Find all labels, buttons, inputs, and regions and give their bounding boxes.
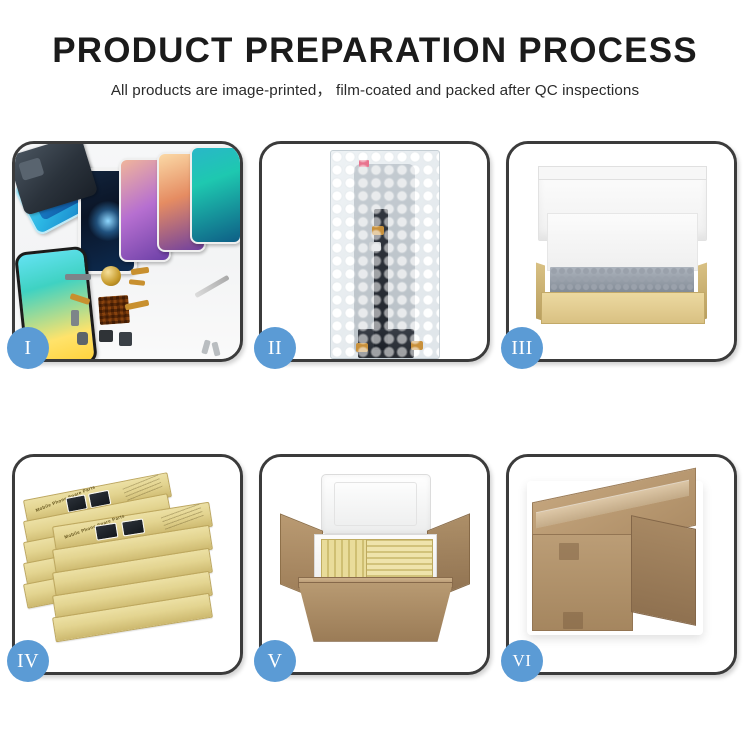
carton-hand-tab-bottom	[563, 612, 583, 629]
page-subtitle: All products are image-printed， film-coa…	[0, 81, 750, 101]
pink-label-tag	[359, 160, 369, 167]
connector-b	[369, 242, 381, 251]
white-foam-sheet	[547, 213, 698, 271]
box-window-2b	[121, 518, 146, 537]
screwdriver-bit-2	[211, 341, 220, 356]
process-step-panel-2: II	[259, 141, 490, 362]
chip-component	[98, 295, 130, 325]
bubble-wrapped-contents	[550, 267, 694, 295]
process-step-panel-4: Mobile Phone Spare Parts Mobile Phone Sp…	[12, 454, 243, 675]
carton-with-foam-image	[262, 457, 487, 672]
step-badge-2: II	[254, 327, 296, 369]
yellow-boxes-right	[366, 539, 433, 582]
box-lid-lip	[538, 166, 707, 181]
connector-a	[372, 226, 384, 235]
carton-hand-tab-top	[559, 543, 579, 560]
process-step-panel-1: I	[12, 141, 243, 362]
box-front-panel	[541, 292, 705, 324]
carton-body	[298, 582, 453, 642]
small-part-a	[65, 274, 91, 280]
carton-side-face	[631, 515, 696, 625]
step-badge-6: VI	[501, 640, 543, 682]
step-badge-3: III	[501, 327, 543, 369]
sealed-carton-image	[509, 457, 734, 672]
speaker-component	[101, 266, 121, 286]
bubble-wrapped-screen-image	[262, 144, 487, 359]
small-part-b	[71, 310, 79, 326]
phone-parts-image	[15, 144, 240, 359]
flex-cable-d	[129, 279, 145, 286]
small-part-d	[99, 330, 113, 342]
step-badge-4: IV	[7, 640, 49, 682]
connector-c	[356, 343, 368, 352]
box-window-2a	[94, 522, 119, 541]
teal-phone-screen	[190, 146, 240, 244]
open-kraft-box-image	[509, 144, 734, 359]
bubble-wrap-bag	[330, 150, 440, 358]
small-part-c	[77, 332, 88, 345]
process-step-panel-5: V	[259, 454, 490, 675]
step-badge-1: I	[7, 327, 49, 369]
product-preparation-infographic: PRODUCT PREPARATION PROCESS All products…	[0, 0, 750, 750]
process-step-panel-6: VI	[506, 454, 737, 675]
connector-d	[411, 341, 423, 350]
process-step-panel-3: III	[506, 141, 737, 362]
screwdriver-bit	[201, 339, 211, 354]
flex-cable-c	[131, 267, 150, 275]
small-part-e	[119, 332, 132, 346]
foam-lid	[321, 474, 431, 534]
step-badge-5: V	[254, 640, 296, 682]
box-stack: Mobile Phone Spare Parts Mobile Phone Sp…	[24, 479, 231, 655]
process-step-grid: I II	[12, 141, 738, 675]
stacked-boxes-image: Mobile Phone Spare Parts Mobile Phone Sp…	[15, 457, 240, 672]
page-title: PRODUCT PREPARATION PROCESS	[0, 30, 750, 72]
header: PRODUCT PREPARATION PROCESS All products…	[0, 0, 750, 101]
tweezers-tool	[194, 275, 229, 298]
